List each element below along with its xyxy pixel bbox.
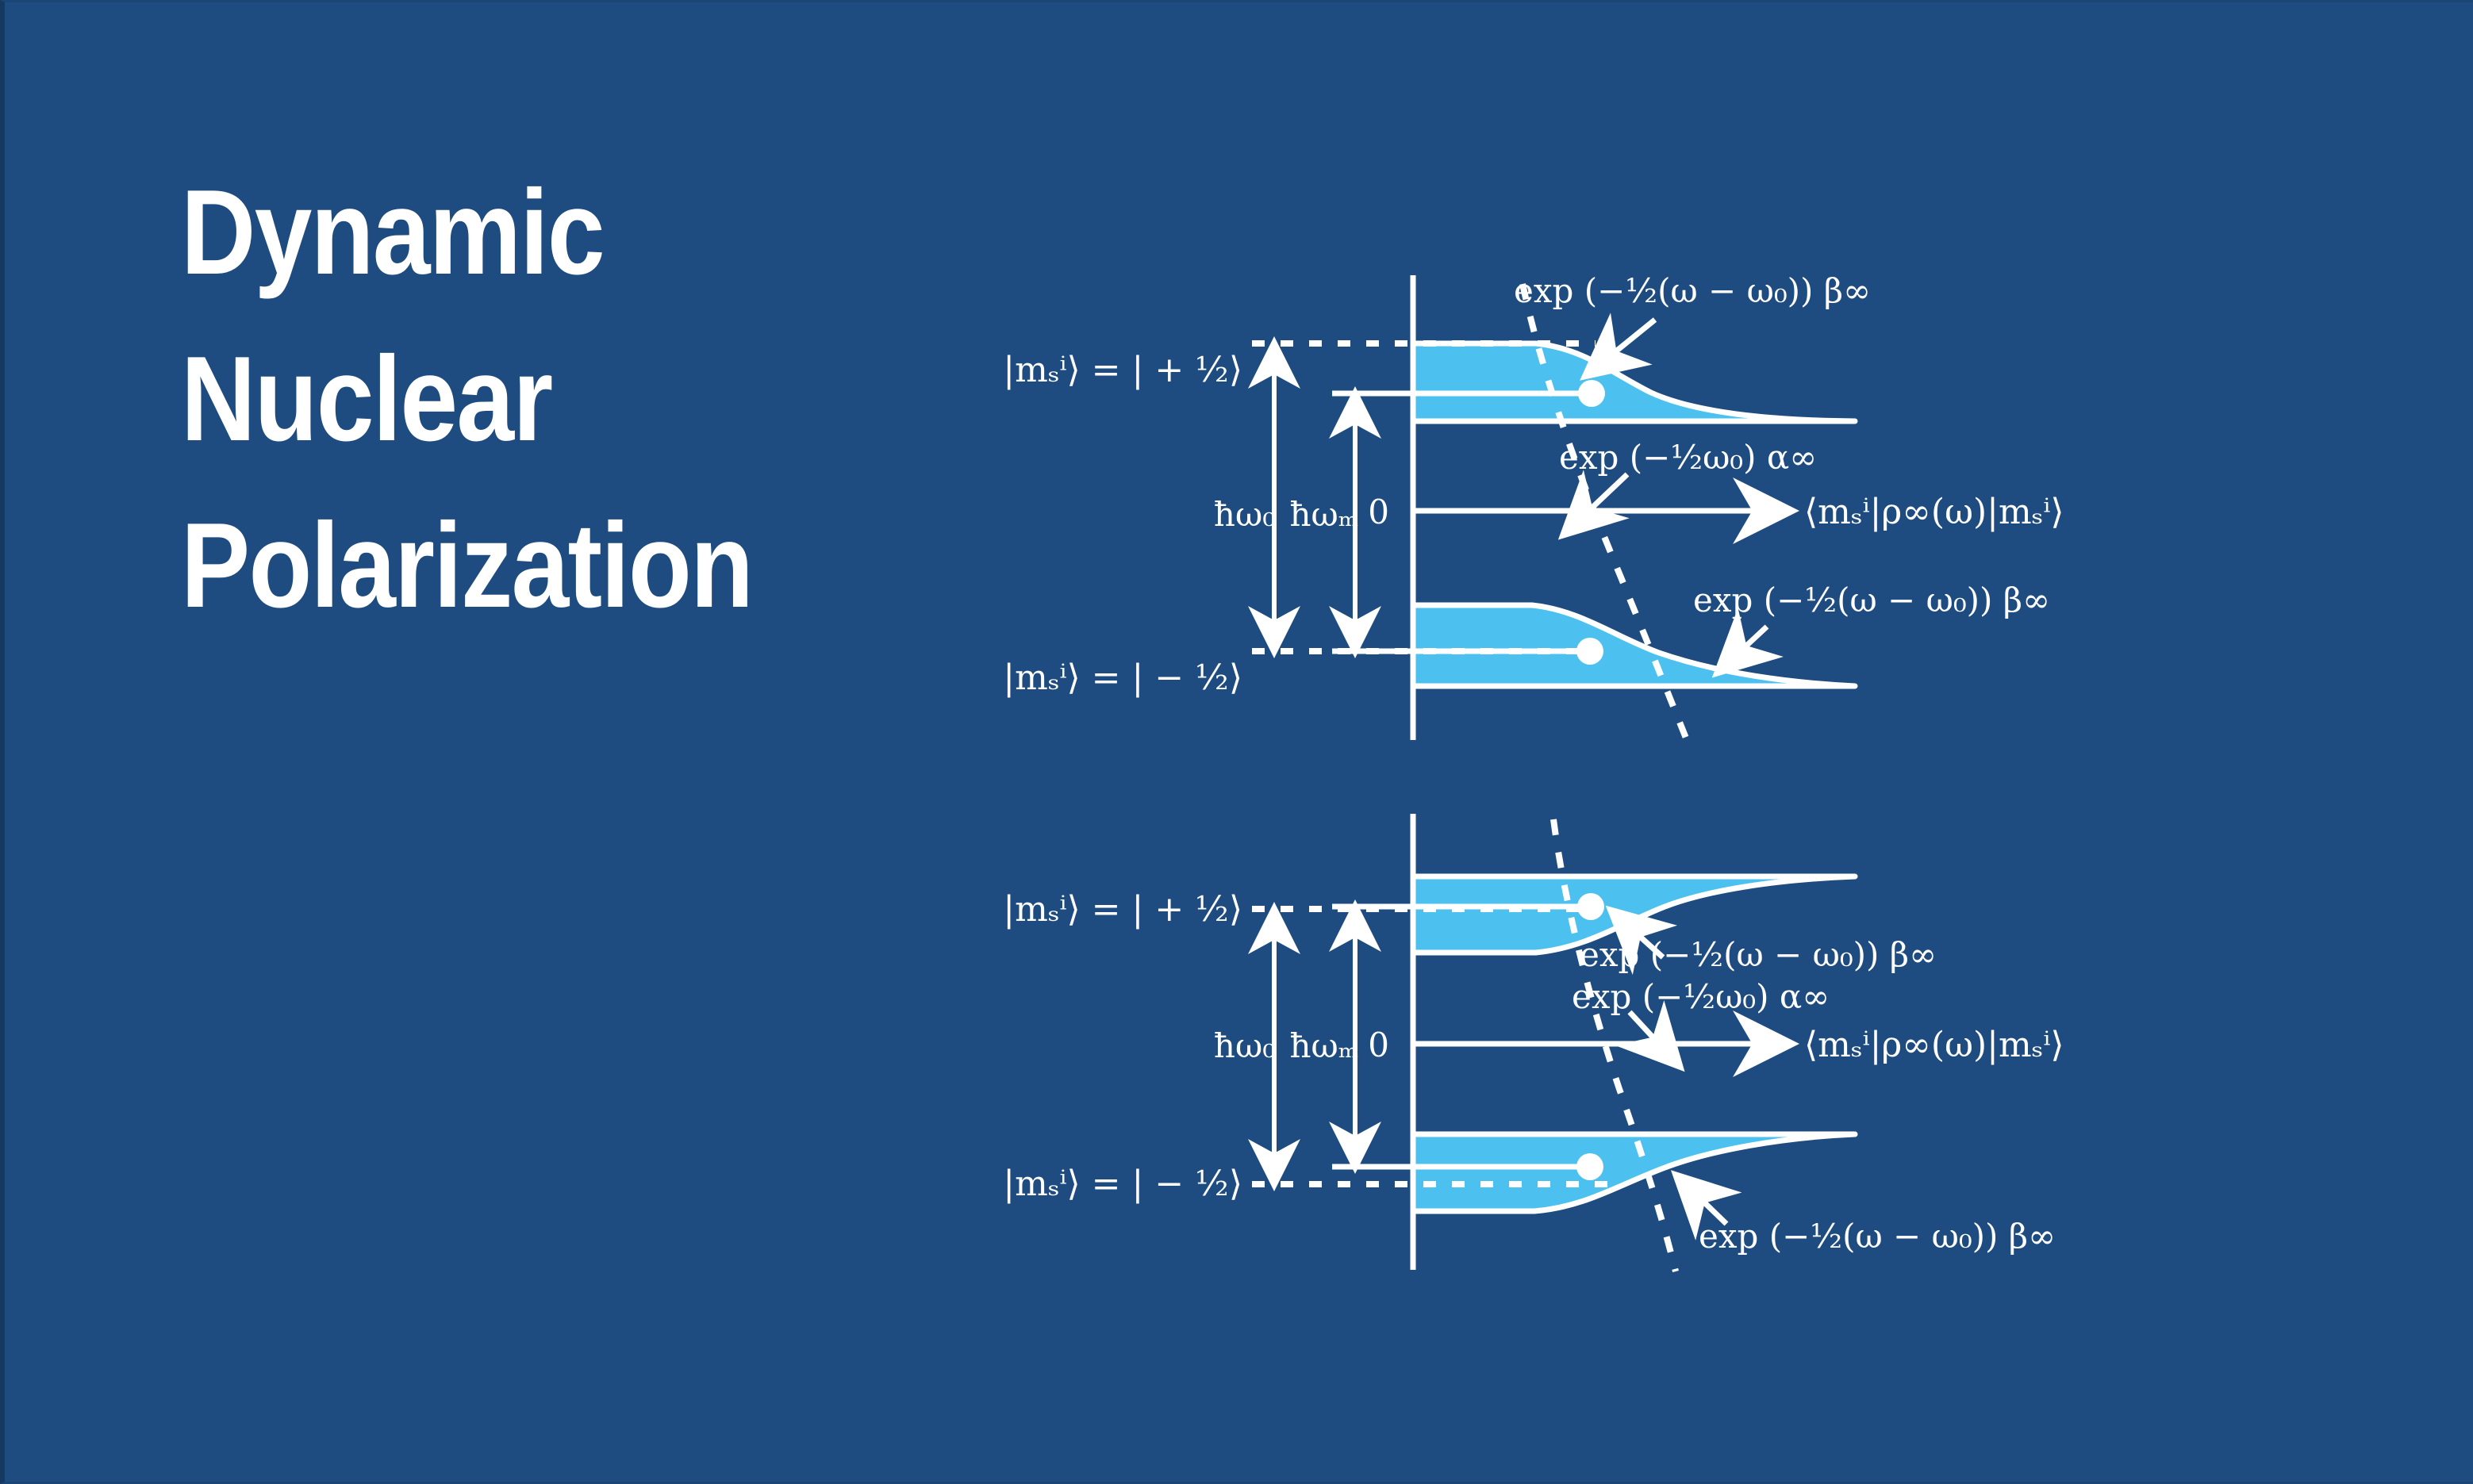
state-label-up-top: |mₛⁱ⟩ = | + ½⟩ xyxy=(1003,350,1242,390)
zero-tick-label-bottom: 0 xyxy=(1368,1026,1389,1064)
annotation-beta-upper-bottom: exp (−½(ω − ω₀)) β∞ xyxy=(1580,935,1937,974)
dnp-figure: |mₛⁱ⟩ = | + ½⟩ |mₛⁱ⟩ = | − ½⟩ ħω₀ ħωₘ 0 … xyxy=(5,2,2473,1484)
annotation-arrow-alpha-bottom xyxy=(1630,1012,1677,1064)
axis-x-label-top: ⟨mₛⁱ|ρ∞(ω)|mₛⁱ⟩ xyxy=(1804,492,2064,532)
intersection-dot-lower-top xyxy=(1576,638,1603,665)
annotation-alpha-bottom: exp (−½ω₀) α∞ xyxy=(1572,977,1830,1016)
slide-root: Dynamic Nuclear Polarization xyxy=(0,0,2473,1484)
axis-x-label-bottom: ⟨mₛⁱ|ρ∞(ω)|mₛⁱ⟩ xyxy=(1804,1025,2064,1065)
zero-tick-label-top: 0 xyxy=(1368,493,1389,531)
annotation-beta-upper-top: exp (−½(ω − ω₀)) β∞ xyxy=(1514,271,1871,310)
annotation-arrow-beta-lower-top xyxy=(1720,627,1767,670)
panel-top: |mₛⁱ⟩ = | + ½⟩ |mₛⁱ⟩ = | − ½⟩ ħω₀ ħωₘ 0 … xyxy=(1003,271,2064,744)
annotation-beta-lower-bottom: exp (−½(ω − ω₀)) β∞ xyxy=(1699,1217,2056,1256)
annotation-alpha-top: exp (−½ω₀) α∞ xyxy=(1559,438,1817,477)
state-label-down-top: |mₛⁱ⟩ = | − ½⟩ xyxy=(1003,658,1242,698)
gap-label-omega0-top: ħω₀ xyxy=(1214,495,1276,534)
annotation-arrow-beta-upper-top xyxy=(1588,320,1655,374)
gap-label-omega0-bottom: ħω₀ xyxy=(1214,1026,1276,1065)
gap-label-omegam-top: ħωₘ xyxy=(1289,495,1358,534)
state-label-down-bottom: |mₛⁱ⟩ = | − ½⟩ xyxy=(1003,1164,1242,1204)
panel-bottom: |mₛⁱ⟩ = | + ½⟩ |mₛⁱ⟩ = | − ½⟩ ħω₀ ħωₘ 0 … xyxy=(1003,814,2064,1271)
band-lower-bottom-panel xyxy=(1413,1134,1853,1211)
annotation-beta-lower-top: exp (−½(ω − ω₀)) β∞ xyxy=(1693,581,2050,619)
intersection-dot-lower-bottom xyxy=(1576,1153,1603,1180)
intersection-dot-upper-bottom xyxy=(1577,893,1604,920)
annotation-arrow-alpha-top xyxy=(1566,474,1627,532)
gap-label-omegam-bottom: ħωₘ xyxy=(1289,1026,1358,1065)
intersection-dot-upper-top xyxy=(1578,380,1605,407)
state-label-up-bottom: |mₛⁱ⟩ = | + ½⟩ xyxy=(1003,889,1242,930)
